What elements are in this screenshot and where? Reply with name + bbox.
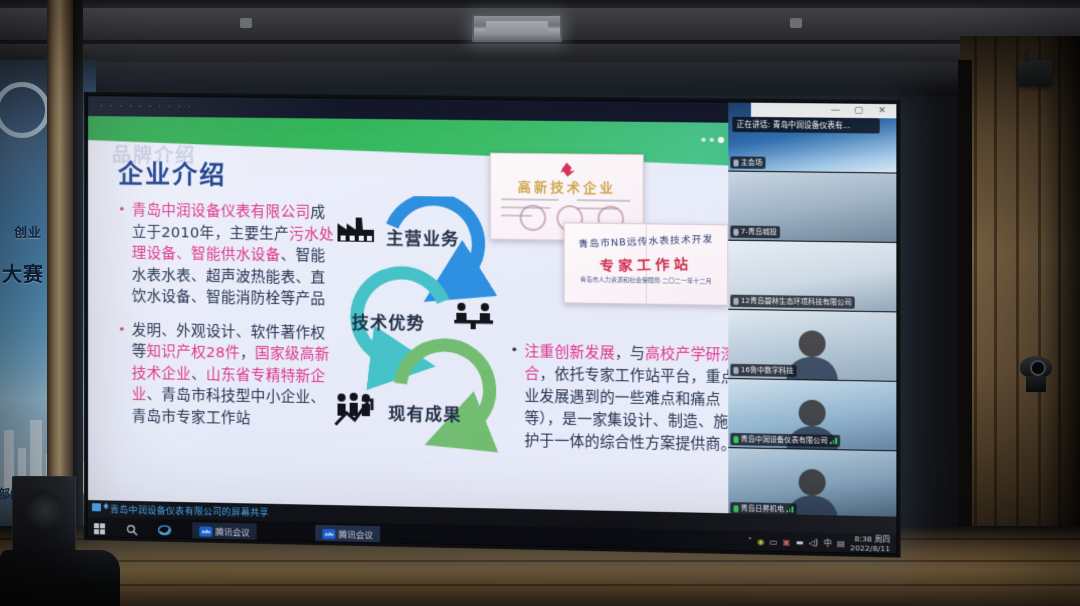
taskbar-app-label: 腾讯会议 [339, 528, 373, 541]
slide-bullet: •发明、外观设计、软件著作权等知识产权28件，国家级高新技术企业、山东省专精特新… [118, 320, 337, 432]
slide-topbar-text: . . . . . . . . . . [100, 99, 193, 110]
chevron-up-icon[interactable]: ˄ [748, 537, 752, 546]
cycle-label-2: 技术优势 [352, 308, 425, 334]
bullet-segment: 知识产权28件 [147, 344, 241, 362]
participant-tile[interactable]: 青岛中润设备仪表有限公司 [728, 379, 896, 451]
meeting-table-icon [453, 302, 494, 331]
bullet-text: 青岛中润设备仪表有限公司成立于2010年，主要生产污水处理设备、智能供水设备、智… [132, 201, 338, 312]
microphone-icon [733, 159, 738, 166]
microphone-icon [733, 297, 738, 304]
security-icon[interactable]: ▣ [783, 538, 791, 547]
bullet-segment: ，与 [615, 346, 645, 363]
participant-tile[interactable]: 7-青岛城投 [728, 172, 896, 243]
volume-icon[interactable]: ◁) [809, 538, 819, 547]
network-icon[interactable]: ▭ [770, 537, 778, 546]
participant-name: 16鲁中数字科技 [741, 365, 794, 376]
microphone-icon: ♦ [102, 502, 110, 512]
expert-workstation-plaque: 青岛市NB远传水表技术开发 专家工作站 青岛市人力资源和社会保障局 二〇二一年十… [564, 222, 729, 306]
tencent-meeting-icon [322, 529, 335, 539]
cycle-label-3: 现有成果 [388, 399, 461, 426]
bullet-marker: • [510, 341, 518, 452]
internet-explorer-icon[interactable] [158, 522, 171, 539]
clock-date: 2022/8/11 [850, 544, 890, 554]
ceiling-beam [0, 62, 1080, 88]
bullet-segment: 青岛中润设备仪表有限公司 [132, 203, 311, 221]
participant-name: 7-青岛城投 [741, 227, 777, 238]
minimize-button[interactable]: — [831, 104, 840, 116]
taskbar-app-label: 腾讯会议 [215, 525, 249, 538]
banner-text-main: 大赛 [2, 258, 44, 287]
shield-icon[interactable]: ◉ [757, 537, 764, 546]
plaque-line-3: 青岛市人力资源和社会保障局 二〇二一年十二月 [565, 276, 728, 286]
microphone-icon [733, 436, 738, 443]
audio-level-icon [830, 438, 837, 444]
growth-people-icon [333, 392, 382, 427]
cycle-label-1: 主营业务 [386, 224, 459, 250]
speaking-banner: 正在讲话: 青岛中润设备仪表有... [732, 117, 879, 134]
tencent-meeting-window: . . . . . . . . . . 品牌介绍 01 企业介绍 •青岛中润设备… [88, 96, 896, 553]
participant-tile[interactable]: 青岛日昇机电 [728, 448, 896, 521]
certificate-flame-emblem [559, 162, 575, 176]
taskbar-app-tencent-meeting-2[interactable]: 腾讯会议 [315, 525, 380, 545]
ceiling-projector [1018, 60, 1052, 86]
participant-name: 12青岛碧林生态环境科技有限公司 [741, 296, 852, 308]
bullet-segment: ， [240, 346, 255, 362]
microphone-icon [733, 228, 738, 235]
participant-name-badge: 主会场 [730, 156, 765, 169]
slide-left-bullets: •青岛中润设备仪表有限公司成立于2010年，主要生产污水处理设备、智能供水设备、… [118, 200, 337, 443]
battery-icon[interactable]: ▬ [796, 538, 804, 547]
taskbar-clock[interactable]: 8:38 周四 2022/8/11 [850, 535, 890, 553]
slide-bullet: •青岛中润设备仪表有限公司成立于2010年，主要生产污水处理设备、智能供水设备、… [118, 200, 337, 311]
ime-icon[interactable]: 中 [824, 538, 832, 549]
participant-tile[interactable]: 12青岛碧林生态环境科技有限公司 [728, 241, 896, 313]
start-windows-icon[interactable] [94, 520, 105, 537]
certificate-title: 高新技术企业 [491, 176, 643, 197]
participant-name: 主会场 [741, 157, 763, 167]
microphone-icon [733, 366, 738, 373]
ceiling [0, 0, 1080, 96]
participant-video-list[interactable]: 正在讲话: 青岛中润设备仪表有...主会场7-青岛城投12青岛碧林生态环境科技有… [728, 102, 896, 516]
plaque-line-2: 专家工作站 [564, 253, 727, 277]
ceiling-light-fixture [472, 14, 562, 42]
participant-name-badge: 16鲁中数字科技 [730, 364, 796, 377]
maximize-button[interactable]: ▢ [854, 105, 863, 117]
microphone-icon [733, 505, 738, 512]
participant-tile[interactable]: 16鲁中数字科技 [728, 310, 896, 382]
participant-name-badge: 青岛中润设备仪表有限公司 [730, 433, 839, 447]
banner-text-upper: 创业 [14, 222, 42, 241]
participant-name: 青岛中润设备仪表有限公司 [741, 434, 828, 446]
bullet-segment: 注重创新发展 [524, 344, 614, 362]
ceiling-light-small [790, 18, 802, 28]
window-titlebar: — ▢ ✕ [751, 103, 896, 119]
close-button[interactable]: ✕ [878, 105, 886, 117]
participant-name-badge: 12青岛碧林生态环境科技有限公司 [730, 295, 854, 309]
wall-shadow [1040, 36, 1080, 576]
search-icon[interactable] [126, 521, 138, 538]
chair-back [0, 550, 120, 606]
screen-share-status-text: 青岛中润设备仪表有限公司的屏幕共享 [110, 503, 269, 519]
system-tray[interactable]: ˄ ◉ ▭ ▣ ▬ ◁) 中 ▤ 8:38 周四 2022/8/11 [748, 533, 890, 553]
bullet-text: 发明、外观设计、软件著作权等知识产权28件，国家级高新技术企业、山东省专精特新企… [132, 320, 338, 431]
wall-trim [958, 60, 972, 540]
audio-level-icon [786, 506, 793, 512]
bullet-segment: 、 [191, 366, 206, 382]
taskbar-app-tencent-meeting-1[interactable]: 腾讯会议 [192, 522, 256, 541]
tencent-meeting-icon [199, 526, 212, 536]
notification-icon[interactable]: ▤ [837, 539, 845, 548]
led-display-wall: . . . . . . . . . . 品牌介绍 01 企业介绍 •青岛中润设备… [84, 92, 901, 558]
slide-title: 企业介绍 [118, 154, 226, 191]
conference-room-scene: 创业 大赛 部门 . . . . [0, 0, 1080, 606]
bullet-marker: • [118, 320, 126, 428]
bullet-marker: • [118, 200, 126, 308]
factory-icon [335, 213, 376, 244]
bullet-segment: 、青岛市科技型中小企业、青岛市专家工作站 [132, 387, 326, 426]
ptz-camera [1014, 356, 1058, 396]
participant-name-badge: 7-青岛城投 [730, 225, 780, 238]
ceiling-light-small [240, 18, 252, 28]
screen-share-icon [92, 503, 101, 511]
